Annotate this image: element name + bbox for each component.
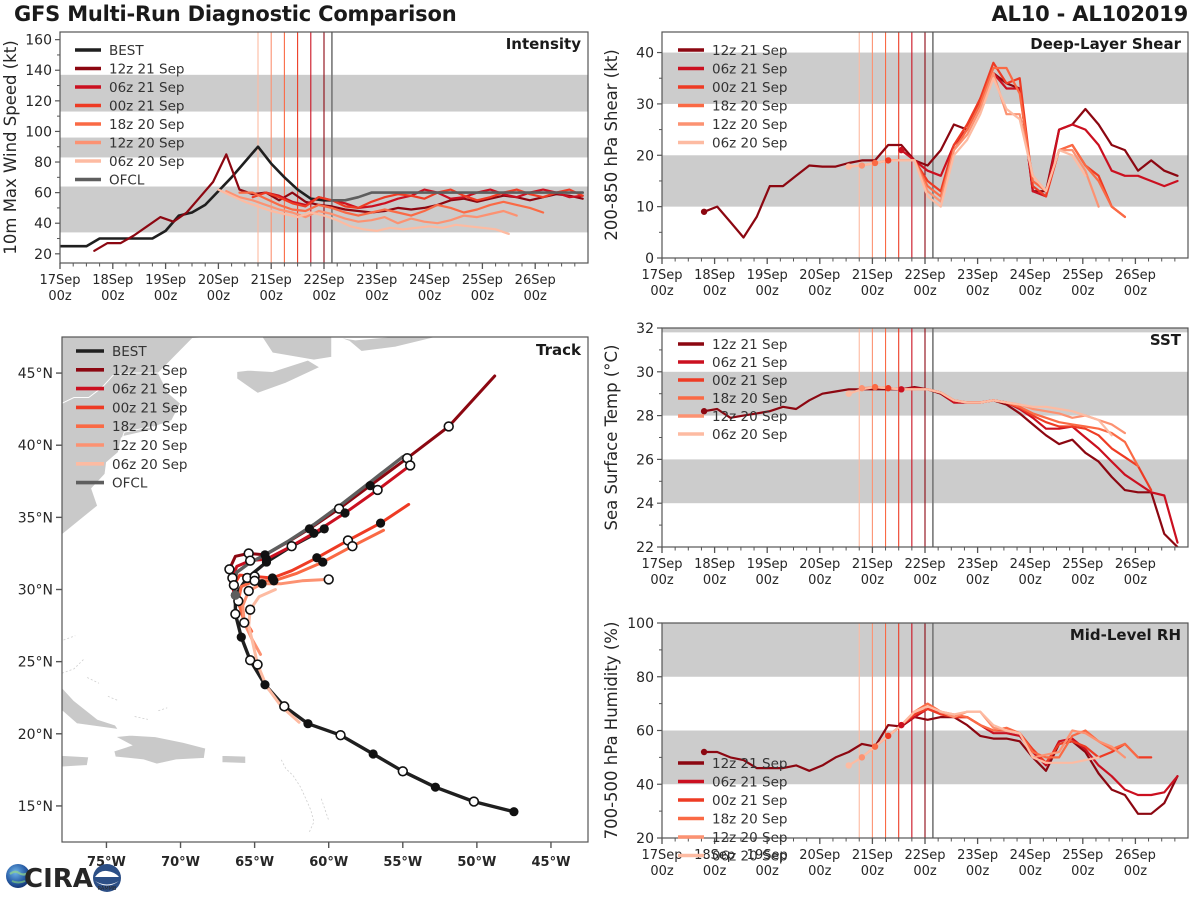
y-tick-label: 30 bbox=[636, 97, 654, 113]
x-tick-label: 20Sep bbox=[799, 557, 840, 572]
svg-text:RAMMB: RAMMB bbox=[98, 886, 117, 892]
x-tick-label: 18Sep bbox=[694, 268, 735, 283]
panel-title: SST bbox=[1150, 331, 1182, 349]
rh-chart: 2040608010017Sep00z18Sep00z19Sep00z20Sep… bbox=[600, 605, 1200, 900]
track-marker-filled bbox=[237, 633, 246, 642]
x-tick-sublabel: 00z bbox=[703, 573, 727, 588]
shear-chart: 01020304017Sep00z18Sep00z19Sep00z20Sep00… bbox=[600, 20, 1200, 320]
legend-label: 12z 21 Sep bbox=[712, 337, 787, 353]
track-marker-filled bbox=[303, 719, 312, 728]
track-marker-open bbox=[240, 618, 249, 627]
x-tick-label: 22Sep bbox=[904, 848, 945, 863]
y-tick-label: 30 bbox=[636, 365, 654, 381]
x-tick-sublabel: 00z bbox=[966, 284, 990, 299]
x-tick-label: 22Sep bbox=[303, 273, 344, 288]
track-marker-open bbox=[398, 767, 407, 776]
x-tick-sublabel: 00z bbox=[260, 289, 284, 304]
legend-label: 06z 21 Sep bbox=[712, 355, 787, 371]
legend-label: OFCL bbox=[112, 476, 148, 492]
track-marker-filled bbox=[262, 555, 271, 564]
track-marker-filled bbox=[257, 579, 266, 588]
x-tick-sublabel: 00z bbox=[808, 284, 832, 299]
x-tick-label: 23Sep bbox=[957, 268, 998, 283]
track-marker-open bbox=[373, 486, 382, 495]
x-tick-label: 17Sep bbox=[641, 557, 682, 572]
x-tick-sublabel: 00z bbox=[524, 289, 548, 304]
legend-label: 06z 20 Sep bbox=[112, 457, 187, 473]
legend-label: 00z 21 Sep bbox=[712, 80, 787, 96]
legend-label: 06z 20 Sep bbox=[712, 136, 787, 152]
x-tick-label: 17Sep bbox=[39, 273, 80, 288]
track-marker-open bbox=[348, 542, 357, 551]
track-marker-open bbox=[244, 587, 253, 596]
x-tick-label: 19Sep bbox=[747, 268, 788, 283]
legend-label: 12z 20 Sep bbox=[712, 117, 787, 133]
x-tick-sublabel: 00z bbox=[913, 864, 937, 879]
x-tick-sublabel: 00z bbox=[913, 284, 937, 299]
y-tick-label: 40 bbox=[636, 777, 654, 793]
x-tick-label: 21Sep bbox=[852, 268, 893, 283]
x-tick-sublabel: 00z bbox=[1124, 284, 1148, 299]
legend-label: 12z 20 Sep bbox=[112, 438, 187, 454]
y-tick-label: 60 bbox=[34, 186, 52, 202]
x-tick-label: 25Sep bbox=[1062, 848, 1103, 863]
x-tick-label: 20Sep bbox=[799, 848, 840, 863]
panel-title: Track bbox=[536, 341, 582, 359]
x-tick-sublabel: 00z bbox=[365, 289, 389, 304]
legend-label: 00z 21 Sep bbox=[112, 400, 187, 416]
panel-title: Intensity bbox=[506, 35, 582, 53]
y-tick-label: 26 bbox=[636, 452, 654, 468]
lon-tick-label: 55°W bbox=[383, 855, 422, 870]
sst-chart: 22242628303217Sep00z18Sep00z19Sep00z20Se… bbox=[600, 320, 1200, 605]
track-panel: 45°N40°N35°N30°N25°N20°N15°N75°W70°W65°W… bbox=[0, 325, 600, 900]
legend-label: 00z 21 Sep bbox=[109, 99, 184, 115]
lat-tick-label: 25°N bbox=[18, 655, 53, 671]
x-tick-label: 24Sep bbox=[409, 273, 450, 288]
x-tick-sublabel: 00z bbox=[418, 289, 442, 304]
x-tick-sublabel: 00z bbox=[154, 289, 178, 304]
lon-tick-label: 50°W bbox=[457, 855, 496, 870]
x-tick-sublabel: 00z bbox=[966, 864, 990, 879]
y-tick-label: 120 bbox=[25, 94, 52, 110]
x-tick-sublabel: 00z bbox=[703, 864, 727, 879]
legend-label: 12z 20 Sep bbox=[712, 830, 787, 846]
legend-label: 12z 20 Sep bbox=[109, 136, 184, 152]
cira-logo: CIRA RAMMB bbox=[4, 855, 132, 899]
y-tick-label: 100 bbox=[627, 616, 654, 632]
track-marker-open bbox=[231, 610, 240, 619]
y-axis-label: 700-500 hPa Humidity (%) bbox=[602, 622, 621, 840]
x-tick-sublabel: 00z bbox=[756, 284, 780, 299]
lon-tick-label: 70°W bbox=[161, 855, 200, 870]
y-tick-label: 80 bbox=[636, 670, 654, 686]
track-marker-filled bbox=[269, 576, 278, 585]
legend-label: 18z 20 Sep bbox=[112, 419, 187, 435]
svg-text:CIRA: CIRA bbox=[24, 864, 93, 894]
x-tick-label: 26Sep bbox=[515, 273, 556, 288]
track-marker-open bbox=[229, 581, 238, 590]
y-tick-label: 28 bbox=[636, 409, 654, 425]
legend-label: 00z 21 Sep bbox=[712, 373, 787, 389]
lon-tick-label: 45°W bbox=[531, 855, 570, 870]
legend-label: 18z 20 Sep bbox=[109, 117, 184, 133]
y-tick-label: 140 bbox=[25, 63, 52, 79]
track-marker-filled bbox=[369, 749, 378, 758]
y-tick-label: 100 bbox=[25, 124, 52, 140]
x-tick-label: 18Sep bbox=[92, 273, 133, 288]
intensity-panel: 2040608010012014016017Sep00z18Sep00z19Se… bbox=[0, 20, 600, 325]
x-tick-label: 19Sep bbox=[747, 557, 788, 572]
y-tick-label: 22 bbox=[636, 540, 654, 556]
legend-label: OFCL bbox=[109, 173, 145, 189]
x-tick-sublabel: 00z bbox=[1019, 573, 1043, 588]
y-tick-label: 40 bbox=[34, 216, 52, 232]
legend-label: 12z 21 Sep bbox=[109, 62, 184, 78]
x-tick-label: 26Sep bbox=[1115, 848, 1156, 863]
x-tick-sublabel: 00z bbox=[703, 284, 727, 299]
shear-panel: 01020304017Sep00z18Sep00z19Sep00z20Sep00… bbox=[600, 20, 1200, 320]
lat-tick-label: 45°N bbox=[18, 366, 53, 382]
x-tick-sublabel: 00z bbox=[1019, 864, 1043, 879]
panel-title: Deep-Layer Shear bbox=[1030, 35, 1181, 53]
sst-panel: 22242628303217Sep00z18Sep00z19Sep00z20Se… bbox=[600, 320, 1200, 605]
x-tick-sublabel: 00z bbox=[861, 864, 885, 879]
x-tick-sublabel: 00z bbox=[1124, 864, 1148, 879]
legend-label: 18z 20 Sep bbox=[712, 99, 787, 115]
coastline bbox=[62, 755, 89, 767]
y-tick-label: 160 bbox=[25, 33, 52, 49]
panel-title: Mid-Level RH bbox=[1070, 626, 1181, 644]
rh-panel: 2040608010017Sep00z18Sep00z19Sep00z20Sep… bbox=[600, 605, 1200, 900]
x-tick-sublabel: 00z bbox=[1019, 284, 1043, 299]
x-tick-label: 25Sep bbox=[462, 273, 503, 288]
track-marker-filled bbox=[260, 680, 269, 689]
track-marker-open bbox=[246, 605, 255, 614]
legend-label: 12z 20 Sep bbox=[712, 409, 787, 425]
intensity-chart: 2040608010012014016017Sep00z18Sep00z19Se… bbox=[0, 20, 600, 325]
x-tick-sublabel: 00z bbox=[312, 289, 336, 304]
x-tick-sublabel: 00z bbox=[1071, 864, 1095, 879]
y-axis-label: 10m Max Wind Speed (kt) bbox=[1, 40, 20, 254]
track-marker-open bbox=[324, 575, 333, 584]
y-tick-label: 20 bbox=[34, 247, 52, 263]
x-tick-label: 23Sep bbox=[356, 273, 397, 288]
lat-tick-label: 30°N bbox=[18, 583, 53, 599]
x-tick-sublabel: 00z bbox=[1124, 573, 1148, 588]
track-marker-open bbox=[253, 660, 262, 669]
x-tick-label: 24Sep bbox=[1010, 848, 1051, 863]
x-tick-label: 18Sep bbox=[694, 557, 735, 572]
legend-label: 06z 21 Sep bbox=[109, 80, 184, 96]
legend-label: 18z 20 Sep bbox=[712, 391, 787, 407]
track-marker-open bbox=[287, 542, 296, 551]
x-tick-sublabel: 00z bbox=[48, 289, 72, 304]
track-marker-filled bbox=[320, 524, 329, 533]
x-tick-label: 26Sep bbox=[1115, 268, 1156, 283]
track-map: 45°N40°N35°N30°N25°N20°N15°N75°W70°W65°W… bbox=[0, 325, 600, 900]
track-marker-filled bbox=[376, 519, 385, 528]
legend-label: 06z 21 Sep bbox=[712, 775, 787, 791]
legend-label: 18z 20 Sep bbox=[712, 812, 787, 828]
y-tick-label: 40 bbox=[636, 46, 654, 62]
track-marker-open bbox=[246, 556, 255, 565]
x-tick-label: 17Sep bbox=[641, 848, 682, 863]
x-tick-label: 20Sep bbox=[799, 268, 840, 283]
y-axis-label: Sea Surface Temp (°C) bbox=[602, 345, 621, 531]
lat-tick-label: 15°N bbox=[18, 799, 53, 815]
legend-label: 12z 21 Sep bbox=[712, 43, 787, 59]
track-marker-open bbox=[336, 731, 345, 740]
track-marker-open bbox=[280, 702, 289, 711]
x-tick-label: 23Sep bbox=[957, 848, 998, 863]
x-tick-sublabel: 00z bbox=[913, 573, 937, 588]
coastline bbox=[222, 755, 246, 763]
x-tick-label: 17Sep bbox=[641, 268, 682, 283]
legend-label: 12z 21 Sep bbox=[712, 756, 787, 772]
lat-tick-label: 40°N bbox=[18, 438, 53, 454]
x-tick-sublabel: 00z bbox=[756, 573, 780, 588]
legend-label: 06z 20 Sep bbox=[712, 427, 787, 443]
x-tick-label: 25Sep bbox=[1062, 268, 1103, 283]
x-tick-label: 24Sep bbox=[1010, 268, 1051, 283]
diagnostic-dashboard: GFS Multi-Run Diagnostic Comparison AL10… bbox=[0, 0, 1200, 900]
x-tick-sublabel: 00z bbox=[861, 284, 885, 299]
legend-label: 06z 21 Sep bbox=[112, 382, 187, 398]
y-tick-label: 60 bbox=[636, 724, 654, 740]
y-tick-label: 20 bbox=[636, 148, 654, 164]
y-tick-label: 0 bbox=[645, 251, 654, 267]
x-tick-label: 19Sep bbox=[145, 273, 186, 288]
x-tick-label: 20Sep bbox=[198, 273, 239, 288]
x-tick-sublabel: 00z bbox=[650, 864, 674, 879]
x-tick-sublabel: 00z bbox=[808, 864, 832, 879]
legend-label: BEST bbox=[112, 344, 147, 360]
track-marker-filled bbox=[309, 529, 318, 538]
x-tick-sublabel: 00z bbox=[808, 573, 832, 588]
x-tick-label: 21Sep bbox=[852, 557, 893, 572]
x-tick-label: 24Sep bbox=[1010, 557, 1051, 572]
track-marker-filled bbox=[509, 807, 518, 816]
legend-label: 06z 21 Sep bbox=[712, 62, 787, 78]
x-tick-sublabel: 00z bbox=[101, 289, 125, 304]
lon-tick-label: 60°W bbox=[309, 855, 348, 870]
x-tick-sublabel: 00z bbox=[207, 289, 231, 304]
track-marker-open bbox=[406, 461, 415, 470]
y-tick-label: 10 bbox=[636, 200, 654, 216]
x-tick-label: 22Sep bbox=[904, 268, 945, 283]
y-axis-label: 200-850 hPa Shear (kt) bbox=[602, 49, 621, 240]
x-tick-sublabel: 00z bbox=[650, 284, 674, 299]
x-tick-sublabel: 00z bbox=[861, 573, 885, 588]
lat-tick-label: 35°N bbox=[18, 510, 53, 526]
x-tick-label: 23Sep bbox=[957, 557, 998, 572]
x-tick-label: 21Sep bbox=[852, 848, 893, 863]
legend-label: 12z 21 Sep bbox=[112, 363, 187, 379]
legend-label: 06z 20 Sep bbox=[109, 154, 184, 170]
lat-tick-label: 20°N bbox=[18, 727, 53, 743]
y-tick-label: 20 bbox=[636, 831, 654, 847]
x-tick-sublabel: 00z bbox=[966, 573, 990, 588]
legend-label: BEST bbox=[109, 43, 144, 59]
x-tick-label: 25Sep bbox=[1062, 557, 1103, 572]
track-marker-filled bbox=[340, 508, 349, 517]
y-tick-label: 80 bbox=[34, 155, 52, 171]
y-tick-label: 32 bbox=[636, 321, 654, 337]
x-tick-sublabel: 00z bbox=[650, 573, 674, 588]
legend-label: 00z 21 Sep bbox=[712, 793, 787, 809]
y-tick-label: 24 bbox=[636, 496, 654, 512]
x-tick-label: 22Sep bbox=[904, 557, 945, 572]
lon-tick-label: 65°W bbox=[235, 855, 274, 870]
track-marker-filled bbox=[231, 591, 240, 600]
x-tick-label: 21Sep bbox=[251, 273, 292, 288]
track-marker-open bbox=[470, 797, 479, 806]
track-marker-filled bbox=[431, 783, 440, 792]
x-tick-sublabel: 00z bbox=[1071, 284, 1095, 299]
track-marker-open bbox=[444, 422, 453, 431]
x-tick-sublabel: 00z bbox=[756, 864, 780, 879]
track-marker-filled bbox=[318, 557, 327, 566]
x-tick-sublabel: 00z bbox=[471, 289, 495, 304]
x-tick-sublabel: 00z bbox=[1071, 573, 1095, 588]
legend-label: 06z 20 Sep bbox=[712, 849, 787, 865]
track-marker-open bbox=[225, 565, 234, 574]
x-tick-label: 26Sep bbox=[1115, 557, 1156, 572]
